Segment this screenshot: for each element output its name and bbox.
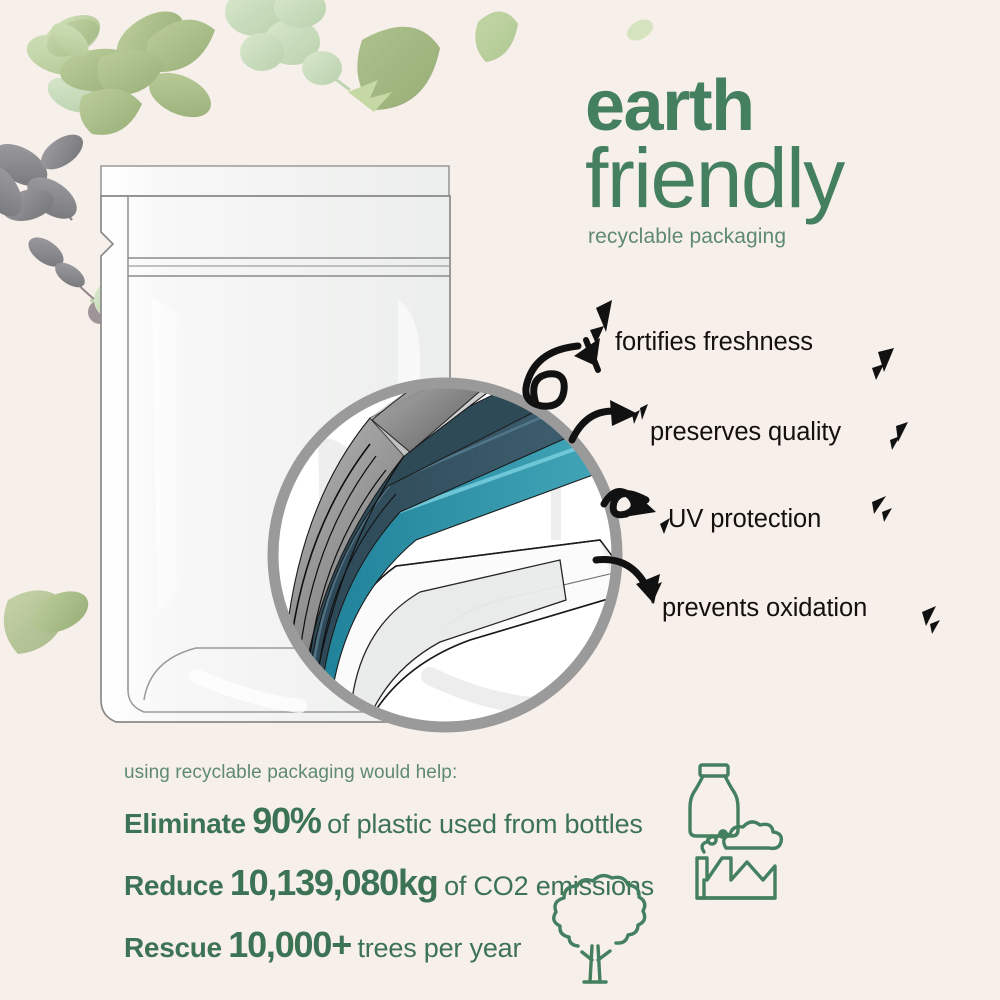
bottle-icon [690,765,738,836]
tree-icon [554,876,645,982]
poster-canvas: earth friendly recyclable packaging fort… [0,0,1000,1000]
stat-icons-group [0,0,1000,1000]
